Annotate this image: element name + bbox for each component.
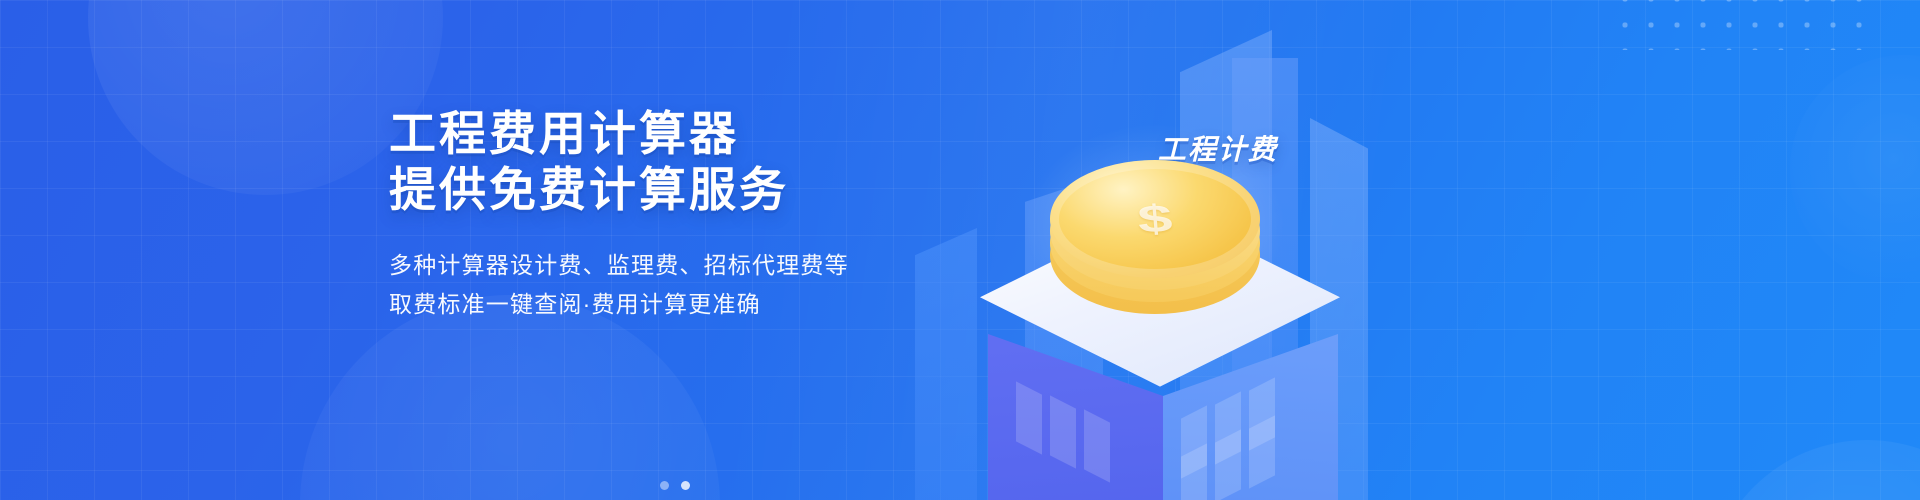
carousel-dot-1[interactable] xyxy=(660,481,669,490)
banner-illustration: 工程计费 $ xyxy=(880,0,1920,500)
building-window xyxy=(1050,395,1076,468)
background-column-far-left xyxy=(915,228,977,500)
circle-decoration-bottom-left xyxy=(300,295,720,500)
subtitle-line-1: 多种计算器设计费、监理费、招标代理费等 xyxy=(389,252,849,278)
carousel-dot-2[interactable] xyxy=(681,481,690,490)
headline-line-1: 工程费用计算器 xyxy=(389,107,739,160)
hero-banner: 工程费用计算器 提供免费计算服务 多种计算器设计费、监理费、招标代理费等 取费标… xyxy=(0,0,1920,500)
building-window xyxy=(1016,381,1042,454)
dollar-sign-icon: $ xyxy=(1047,179,1263,259)
building-window xyxy=(1215,429,1241,500)
carousel-dots[interactable] xyxy=(660,481,690,490)
coin-stack-icon: $ xyxy=(1050,160,1260,300)
building-window xyxy=(1249,415,1275,488)
building-window xyxy=(1084,409,1110,482)
